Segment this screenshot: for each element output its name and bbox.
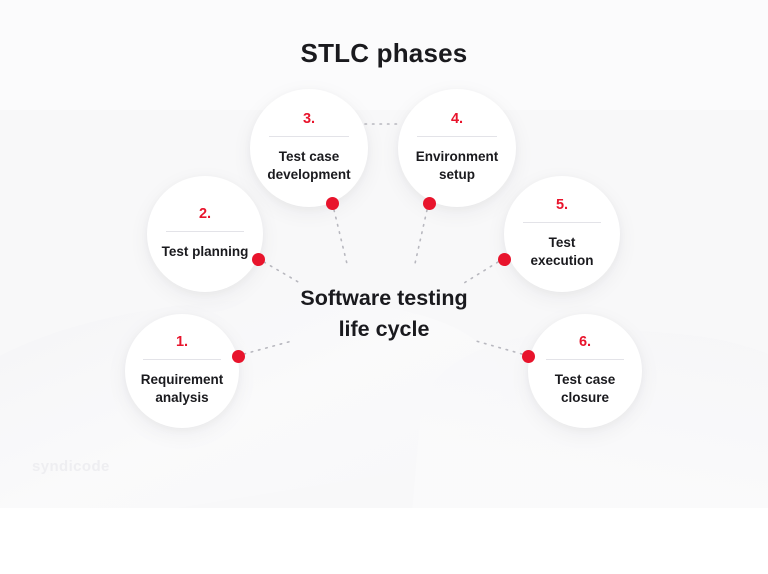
phase-number-1: 1. [176, 335, 188, 350]
background-band-bottom [0, 508, 768, 574]
phase-label-1: Requirement analysis [125, 371, 239, 407]
phase-label-6: Test case closure [528, 371, 642, 407]
phase-number-4: 4. [451, 112, 463, 127]
center-label-line2: life cycle [264, 314, 504, 345]
phase-connector-dot-5 [498, 253, 511, 266]
phase-number-2: 2. [199, 207, 211, 222]
phase-connector-dot-6 [522, 350, 535, 363]
phase-divider-2 [166, 231, 245, 232]
phase-number-5: 5. [556, 198, 568, 213]
phase-node-2[interactable]: 2.Test planning [147, 176, 263, 292]
phase-label-3: Test case development [250, 148, 368, 184]
phase-number-6: 6. [579, 335, 591, 350]
center-label-line1: Software testing [264, 283, 504, 314]
phase-connector-dot-1 [232, 350, 245, 363]
phase-divider-4 [417, 136, 497, 137]
center-label: Software testing life cycle [264, 283, 504, 344]
phase-node-1[interactable]: 1.Requirement analysis [125, 314, 239, 428]
watermark-logo: syndicode [32, 458, 110, 475]
phase-label-4: Environment setup [398, 148, 516, 184]
phase-connector-dot-4 [423, 197, 436, 210]
phase-divider-1 [143, 359, 221, 360]
phase-number-3: 3. [303, 112, 315, 127]
phase-node-4[interactable]: 4.Environment setup [398, 89, 516, 207]
page-title: STLC phases [0, 38, 768, 69]
phase-divider-3 [269, 136, 349, 137]
phase-divider-5 [523, 222, 602, 223]
phase-node-5[interactable]: 5.Test execution [504, 176, 620, 292]
phase-label-5: Test execution [504, 234, 620, 270]
phase-node-3[interactable]: 3.Test case development [250, 89, 368, 207]
diagram-canvas: STLC phases 1.Requirement analysis2.Test… [0, 0, 768, 574]
phase-divider-6 [546, 359, 624, 360]
phase-connector-dot-2 [252, 253, 265, 266]
phase-label-2: Test planning [148, 243, 263, 261]
phase-node-6[interactable]: 6.Test case closure [528, 314, 642, 428]
phase-connector-dot-3 [326, 197, 339, 210]
